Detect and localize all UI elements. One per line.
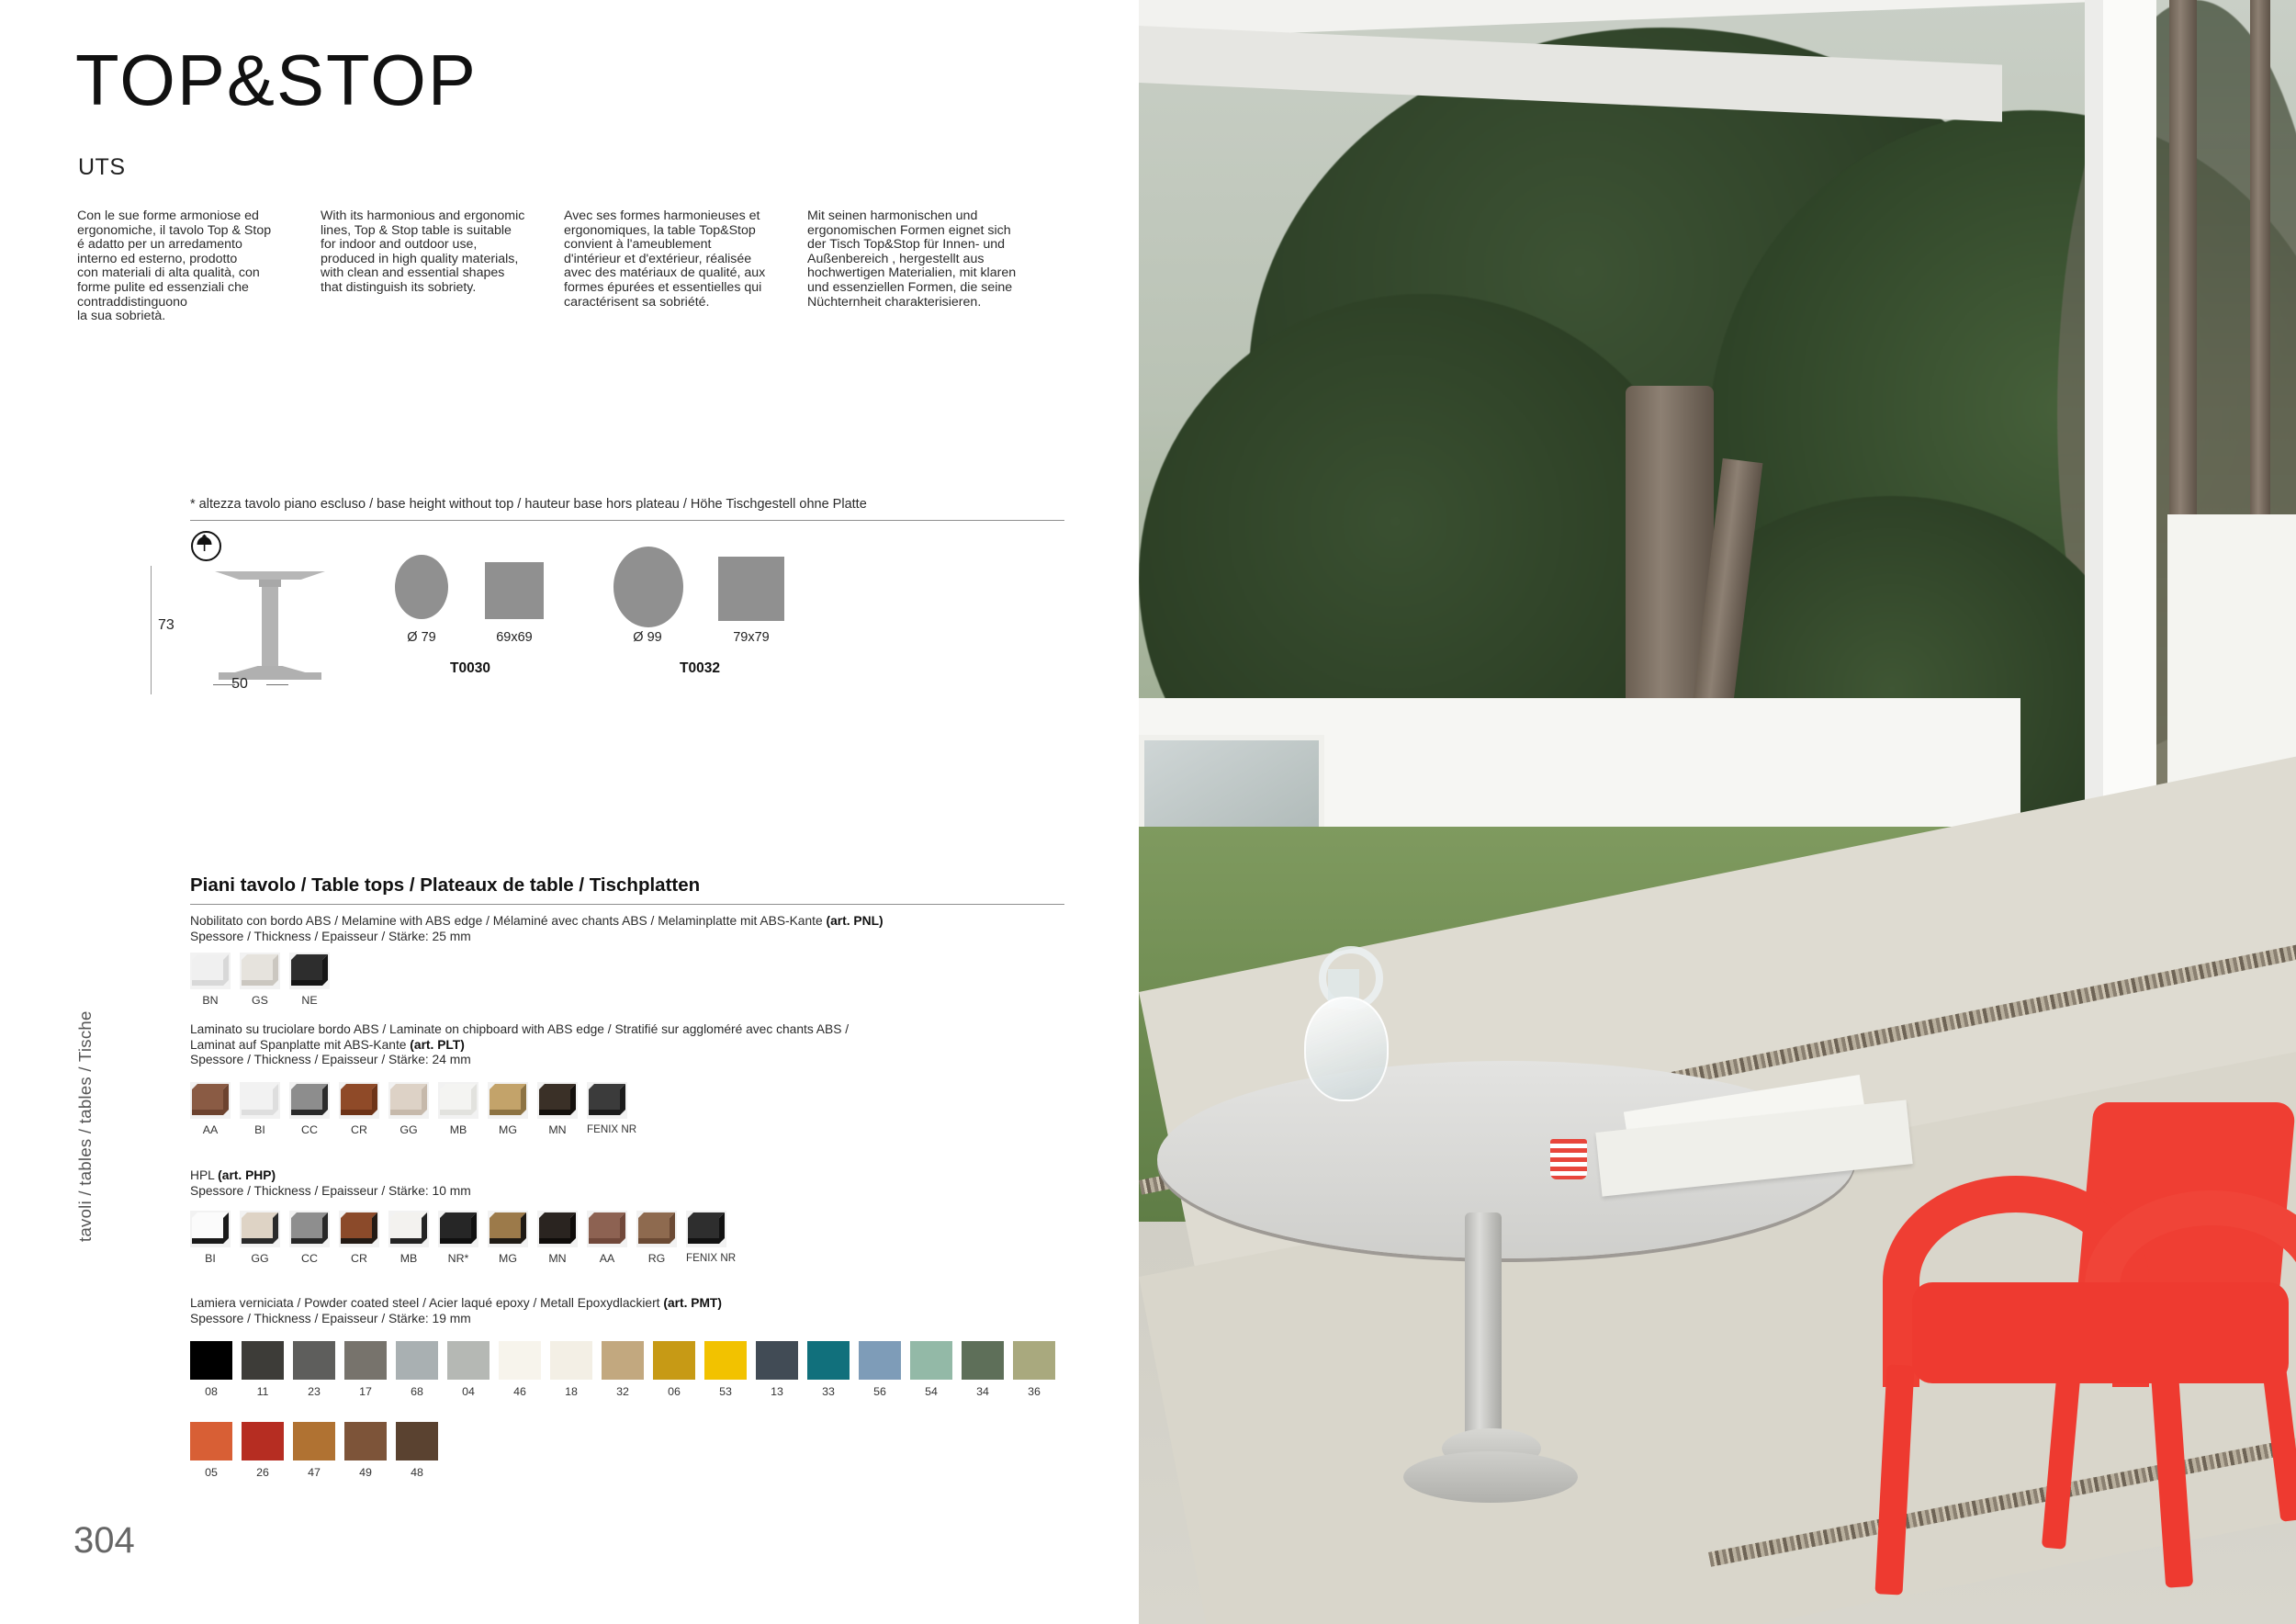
swatch-row-hpl: BIGGCCCRMBNR*MGMNAARGFENIX NR	[190, 1211, 736, 1265]
color-chip	[190, 1422, 232, 1460]
color-label: 49	[344, 1466, 387, 1479]
color-chip	[704, 1341, 747, 1380]
color-chip	[293, 1422, 335, 1460]
swatch-label: MN	[537, 1123, 578, 1136]
swatch-label: BI	[190, 1252, 231, 1265]
description-columns: Con le sue forme armoniose ed ergonomich…	[77, 209, 1060, 324]
description-german: Mit seinen harmonischen und ergonomische…	[807, 209, 1051, 324]
swatch-label: CR	[339, 1252, 379, 1265]
swatch-chip	[339, 1082, 379, 1119]
color-label: 32	[602, 1385, 644, 1398]
swatch-chip	[190, 953, 231, 989]
description-italian: Con le sue forme armoniose ed ergonomich…	[77, 209, 321, 324]
swatch-mn: MN	[537, 1082, 578, 1136]
color-label: 11	[242, 1385, 284, 1398]
color-label: 47	[293, 1466, 335, 1479]
swatch-chip	[240, 953, 280, 989]
catalog-page: TOP&STOP UTS Con le sue forme armoniose …	[0, 0, 2296, 1624]
model-t0032-round-label: Ø 99	[612, 630, 683, 645]
swatch-row-plt: AABICCCRGGMBMGMNFENIX NR	[190, 1082, 636, 1136]
color-label: 13	[756, 1385, 798, 1398]
swatch-mb: MB	[438, 1082, 478, 1136]
model-t0030-square-shape	[485, 562, 544, 626]
color-swatch-18: 18	[550, 1341, 592, 1398]
swatch-bn: BN	[190, 953, 231, 1007]
height-dimension-line	[151, 566, 152, 694]
swatch-chip	[240, 1211, 280, 1247]
swatch-aa: AA	[587, 1211, 627, 1265]
model-t0030-round-label: Ø 79	[395, 630, 448, 645]
color-row-pmt-2: 0526474948	[190, 1422, 447, 1479]
color-swatch-47: 47	[293, 1422, 335, 1479]
color-label: 06	[653, 1385, 695, 1398]
swatch-gg: GG	[240, 1211, 280, 1265]
swatch-chip	[190, 1082, 231, 1119]
section-side-label: tavoli / tables / tables / Tische	[75, 1010, 96, 1242]
chair-leg-front-right	[2151, 1370, 2193, 1588]
swatch-mg: MG	[488, 1211, 528, 1265]
color-swatch-68: 68	[396, 1341, 438, 1398]
color-label: 53	[704, 1385, 747, 1398]
table-base-disc	[1403, 1451, 1578, 1503]
swatch-chip	[587, 1211, 627, 1247]
color-swatch-05: 05	[190, 1422, 232, 1479]
color-chip	[653, 1341, 695, 1380]
swatch-label: BI	[240, 1123, 280, 1136]
swatch-label: GS	[240, 994, 280, 1007]
color-label: 05	[190, 1466, 232, 1479]
swatch-bi: BI	[190, 1211, 231, 1265]
swatch-chip	[438, 1211, 478, 1247]
width-dimension-line-right	[266, 684, 288, 685]
model-t0032-square-shape	[718, 557, 784, 625]
table-tops-heading: Piani tavolo / Table tops / Plateaux de …	[190, 874, 700, 897]
swatch-chip	[537, 1082, 578, 1119]
hpl-thickness: Spessore / Thickness / Epaisseur / Stärk…	[190, 1184, 471, 1198]
color-chip	[242, 1341, 284, 1380]
color-chip	[910, 1341, 952, 1380]
table-base-drawing	[204, 570, 342, 698]
swatch-chip	[289, 953, 330, 989]
swatch-fenix-nr: FENIX NR	[686, 1211, 726, 1265]
color-swatch-53: 53	[704, 1341, 747, 1398]
hpl-desc-line1: HPL	[190, 1168, 218, 1182]
swatch-mn: MN	[537, 1211, 578, 1265]
color-label: 26	[242, 1466, 284, 1479]
swatch-chip	[240, 1082, 280, 1119]
material-description-pnl: Nobilitato con bordo ABS / Melamine with…	[190, 914, 1090, 944]
color-chip	[190, 1341, 232, 1380]
striped-cup	[1550, 1139, 1587, 1179]
page-title: TOP&STOP	[75, 44, 478, 116]
swatch-label: CR	[339, 1123, 379, 1136]
color-label: 04	[447, 1385, 490, 1398]
color-swatch-23: 23	[293, 1341, 335, 1398]
description-english: With its harmonious and ergonomic lines,…	[321, 209, 564, 324]
swatch-gg: GG	[388, 1082, 429, 1136]
swatch-cc: CC	[289, 1211, 330, 1265]
red-chair	[1855, 1102, 2296, 1617]
color-chip	[293, 1341, 335, 1380]
color-swatch-04: 04	[447, 1341, 490, 1398]
pmt-desc-line1: Lamiera verniciata / Powder coated steel…	[190, 1296, 663, 1310]
swatch-label: MB	[438, 1123, 478, 1136]
technical-note: * altezza tavolo piano escluso / base he…	[190, 497, 867, 512]
swatch-label: NE	[289, 994, 330, 1007]
color-label: 23	[293, 1385, 335, 1398]
color-label: 08	[190, 1385, 232, 1398]
pmt-thickness: Spessore / Thickness / Epaisseur / Stärk…	[190, 1312, 471, 1325]
model-t0032-code: T0032	[613, 660, 786, 677]
color-chip	[962, 1341, 1004, 1380]
swatch-chip	[488, 1211, 528, 1247]
plt-desc-line1: Laminato su truciolare bordo ABS / Lamin…	[190, 1022, 849, 1036]
product-photograph: INDEX	[1139, 0, 2296, 1624]
color-chip	[859, 1341, 901, 1380]
color-swatch-08: 08	[190, 1341, 232, 1398]
material-description-pmt: Lamiera verniciata / Powder coated steel…	[190, 1296, 1017, 1326]
chair-seat	[1912, 1282, 2289, 1383]
swatch-label: BN	[190, 994, 231, 1007]
swatch-chip	[289, 1211, 330, 1247]
color-swatch-54: 54	[910, 1341, 952, 1398]
swatch-label: FENIX NR	[686, 1252, 726, 1264]
swatch-bi: BI	[240, 1082, 280, 1136]
swatch-label: GG	[388, 1123, 429, 1136]
swatch-label: CC	[289, 1252, 330, 1265]
hpl-art-code: (art. PHP)	[218, 1168, 276, 1182]
divider-technical	[190, 520, 1064, 521]
swatch-chip	[190, 1211, 231, 1247]
color-label: 56	[859, 1385, 901, 1398]
height-dimension-label: 73	[158, 617, 174, 634]
swatch-label: MG	[488, 1252, 528, 1265]
divider-table-tops	[190, 904, 1064, 905]
swatch-label: CC	[289, 1123, 330, 1136]
swatch-chip	[289, 1082, 330, 1119]
color-label: 68	[396, 1385, 438, 1398]
swatch-nr-: NR*	[438, 1211, 478, 1265]
color-label: 48	[396, 1466, 438, 1479]
pnl-desc-line1: Nobilitato con bordo ABS / Melamine with…	[190, 914, 827, 928]
model-t0032-round-shape	[613, 547, 685, 629]
color-chip	[344, 1422, 387, 1460]
pnl-art-code: (art. PNL)	[827, 914, 884, 928]
swatch-chip	[388, 1211, 429, 1247]
color-swatch-49: 49	[344, 1422, 387, 1479]
material-description-plt: Laminato su truciolare bordo ABS / Lamin…	[190, 1022, 1109, 1068]
color-chip	[344, 1341, 387, 1380]
plt-thickness: Spessore / Thickness / Epaisseur / Stärk…	[190, 1053, 471, 1066]
swatch-rg: RG	[636, 1211, 677, 1265]
color-row-pmt-1: 0811231768044618320653133356543436	[190, 1341, 1064, 1398]
color-swatch-26: 26	[242, 1422, 284, 1479]
plt-art-code: (art. PLT)	[410, 1038, 465, 1052]
swatch-label: GG	[240, 1252, 280, 1265]
swatch-chip	[388, 1082, 429, 1119]
swatch-chip	[636, 1211, 677, 1247]
swatch-label: MB	[388, 1252, 429, 1265]
color-swatch-36: 36	[1013, 1341, 1055, 1398]
plt-desc-line2: Laminat auf Spanplatte mit ABS-Kante	[190, 1038, 410, 1052]
left-page: TOP&STOP UTS Con le sue forme armoniose …	[0, 0, 1139, 1624]
model-t0030-code: T0030	[395, 660, 546, 677]
color-swatch-46: 46	[499, 1341, 541, 1398]
color-chip	[447, 1341, 490, 1380]
swatch-cr: CR	[339, 1211, 379, 1265]
color-chip	[756, 1341, 798, 1380]
swatch-mb: MB	[388, 1211, 429, 1265]
color-chip	[499, 1341, 541, 1380]
swatch-cr: CR	[339, 1082, 379, 1136]
model-t0030-square-label: 69x69	[483, 630, 546, 645]
color-chip	[550, 1341, 592, 1380]
color-label: 17	[344, 1385, 387, 1398]
color-swatch-06: 06	[653, 1341, 695, 1398]
swatch-gs: GS	[240, 953, 280, 1007]
swatch-label: AA	[587, 1252, 627, 1265]
model-t0030-round-shape	[395, 555, 450, 626]
swatch-chip	[537, 1211, 578, 1247]
color-label: 18	[550, 1385, 592, 1398]
swatch-label: MG	[488, 1123, 528, 1136]
color-swatch-34: 34	[962, 1341, 1004, 1398]
swatch-row-pnl: BNGSNE	[190, 953, 339, 1007]
color-label: 36	[1013, 1385, 1055, 1398]
color-swatch-56: 56	[859, 1341, 901, 1398]
color-chip	[396, 1341, 438, 1380]
swatch-label: AA	[190, 1123, 231, 1136]
swatch-chip	[587, 1082, 627, 1119]
swatch-aa: AA	[190, 1082, 231, 1136]
swatch-chip	[339, 1211, 379, 1247]
width-dimension-label: 50	[231, 676, 248, 693]
swatch-label: FENIX NR	[587, 1123, 627, 1135]
color-chip	[807, 1341, 850, 1380]
color-swatch-11: 11	[242, 1341, 284, 1398]
swatch-ne: NE	[289, 953, 330, 1007]
material-description-hpl: HPL (art. PHP) Spessore / Thickness / Ep…	[190, 1168, 1017, 1199]
color-swatch-33: 33	[807, 1341, 850, 1398]
color-chip	[1013, 1341, 1055, 1380]
color-swatch-13: 13	[756, 1341, 798, 1398]
color-chip	[242, 1422, 284, 1460]
color-swatch-17: 17	[344, 1341, 387, 1398]
product-code-subtitle: UTS	[78, 154, 126, 181]
model-t0032-square-label: 79x79	[716, 630, 786, 645]
description-french: Avec ses formes harmonieuses et ergonomi…	[564, 209, 807, 324]
swatch-mg: MG	[488, 1082, 528, 1136]
swatch-chip	[488, 1082, 528, 1119]
swatch-label: RG	[636, 1252, 677, 1265]
chair-leg-front-left	[1874, 1364, 1914, 1595]
color-swatch-32: 32	[602, 1341, 644, 1398]
color-chip	[602, 1341, 644, 1380]
color-label: 34	[962, 1385, 1004, 1398]
pmt-art-code: (art. PMT)	[663, 1296, 722, 1310]
umbrella-icon	[191, 531, 221, 561]
color-label: 54	[910, 1385, 952, 1398]
swatch-cc: CC	[289, 1082, 330, 1136]
color-label: 33	[807, 1385, 850, 1398]
page-number: 304	[73, 1520, 135, 1562]
swatch-chip	[686, 1211, 726, 1247]
color-chip	[396, 1422, 438, 1460]
swatch-fenix-nr: FENIX NR	[587, 1082, 627, 1136]
swatch-chip	[438, 1082, 478, 1119]
pnl-thickness: Spessore / Thickness / Epaisseur / Stärk…	[190, 930, 471, 943]
glass-carafe	[1304, 997, 1389, 1101]
color-swatch-48: 48	[396, 1422, 438, 1479]
swatch-label: MN	[537, 1252, 578, 1265]
color-label: 46	[499, 1385, 541, 1398]
swatch-label: NR*	[438, 1252, 478, 1265]
